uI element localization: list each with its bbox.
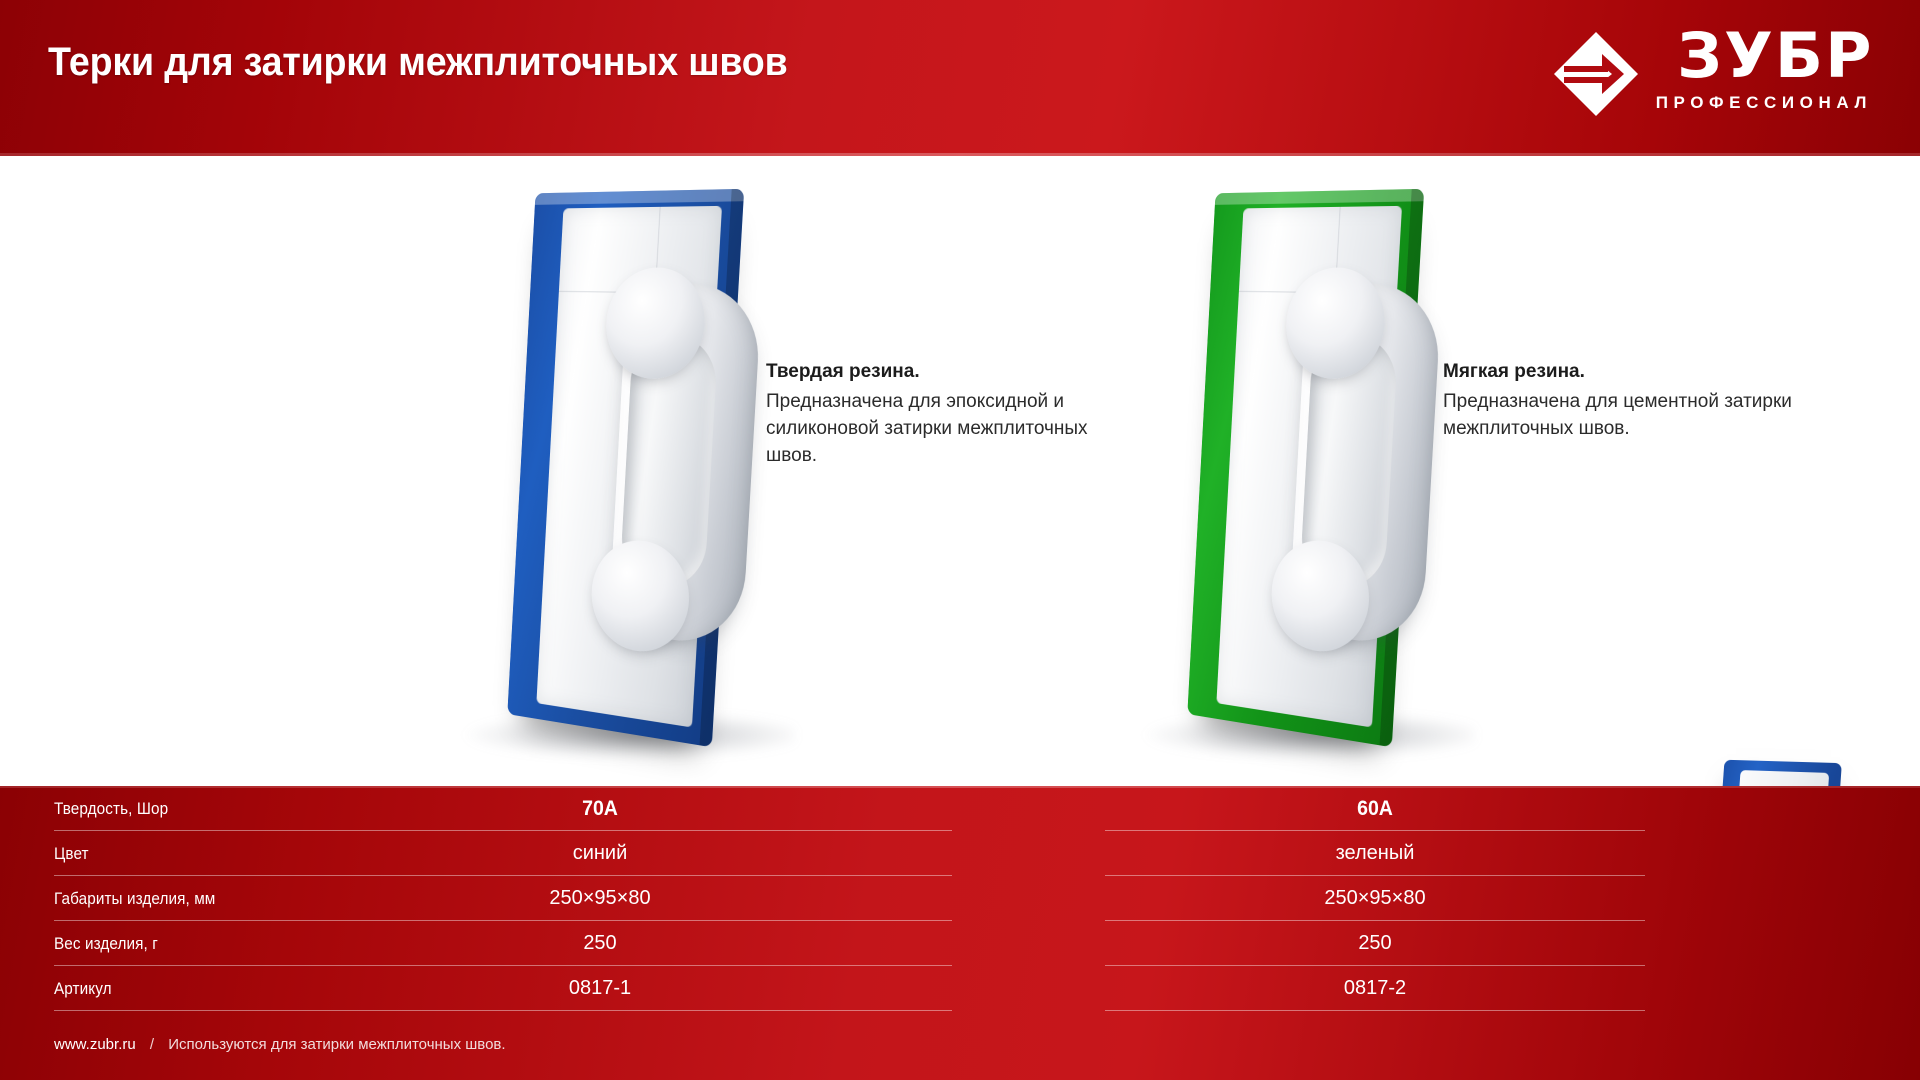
spec-value-green-weight: 250 [1275, 921, 1475, 966]
spec-label-dimensions: Габариты изделия, мм [54, 876, 215, 921]
product-image-green [1185, 192, 1453, 752]
logo-tagline: ПРОФЕССИОНАЛ [1656, 93, 1872, 113]
footer-separator: / [140, 1036, 164, 1053]
row-divider-left [54, 1010, 952, 1011]
spec-value-blue-hardness: 70A [507, 786, 693, 831]
float-handle [586, 283, 773, 650]
product-stage: Твердая резина. Предназначена для эпокси… [0, 156, 1920, 786]
spec-label-article: Артикул [54, 966, 112, 1011]
callout-blue: Твердая резина. Предназначена для эпокси… [766, 360, 1096, 470]
callout-body-green: Предназначена для цементной затирки межп… [1443, 389, 1803, 443]
table-row: Габариты изделия, мм 250×95×80 250×95×80 [0, 876, 1920, 921]
spec-value-green-article: 0817-2 [1275, 966, 1475, 1011]
spec-value-green-hardness: 60A [1282, 786, 1468, 831]
table-row: Артикул 0817-1 0817-2 [0, 966, 1920, 1011]
header-banner: Терки для затирки межплиточных швов ЗУБР… [0, 0, 1920, 156]
zubr-diamond-arrow-icon [1550, 28, 1642, 120]
spec-value-blue-dimensions: 250×95×80 [500, 876, 700, 921]
table-row: Цвет синий зеленый [0, 831, 1920, 876]
table-row: Вес изделия, г 250 250 [0, 921, 1920, 966]
spec-label-weight: Вес изделия, г [54, 921, 158, 966]
spec-label-hardness: Твердость, Шор [54, 786, 168, 831]
product-infographic: Терки для затирки межплиточных швов ЗУБР… [0, 0, 1920, 1080]
spec-value-green-dimensions: 250×95×80 [1275, 876, 1475, 921]
callout-title-blue: Твердая резина. [766, 360, 1096, 384]
callout-green: Мягкая резина. Предназначена для цементн… [1443, 360, 1803, 443]
row-divider-right [1105, 1010, 1645, 1011]
footer-url[interactable]: www.zubr.ru [54, 1036, 136, 1053]
rubber-top-edge [535, 189, 744, 205]
spec-value-green-color: зеленый [1275, 831, 1475, 876]
page-title: Терки для затирки межплиточных швов [48, 40, 788, 85]
float-handle [1266, 283, 1453, 650]
rubber-top-edge [1215, 189, 1424, 205]
spec-table: Твердость, Шор 70A 60A Цвет синий зелены… [0, 786, 1920, 1011]
footer-note: Используются для затирки межплиточных шв… [168, 1036, 505, 1053]
callout-title-green: Мягкая резина. [1443, 360, 1803, 384]
brand-logo: ЗУБР ПРОФЕССИОНАЛ [1550, 26, 1874, 130]
spec-label-color: Цвет [54, 831, 89, 876]
callout-body-blue: Предназначена для эпоксидной и силиконов… [766, 389, 1096, 470]
table-row: Твердость, Шор 70A 60A [0, 786, 1920, 831]
product-image-blue [505, 192, 773, 752]
spec-value-blue-article: 0817-1 [500, 966, 700, 1011]
spec-value-blue-color: синий [500, 831, 700, 876]
logo-wordmark: ЗУБР [1678, 26, 1874, 86]
spec-value-blue-weight: 250 [500, 921, 700, 966]
footer: www.zubr.ru / Используются для затирки м… [54, 1036, 506, 1053]
